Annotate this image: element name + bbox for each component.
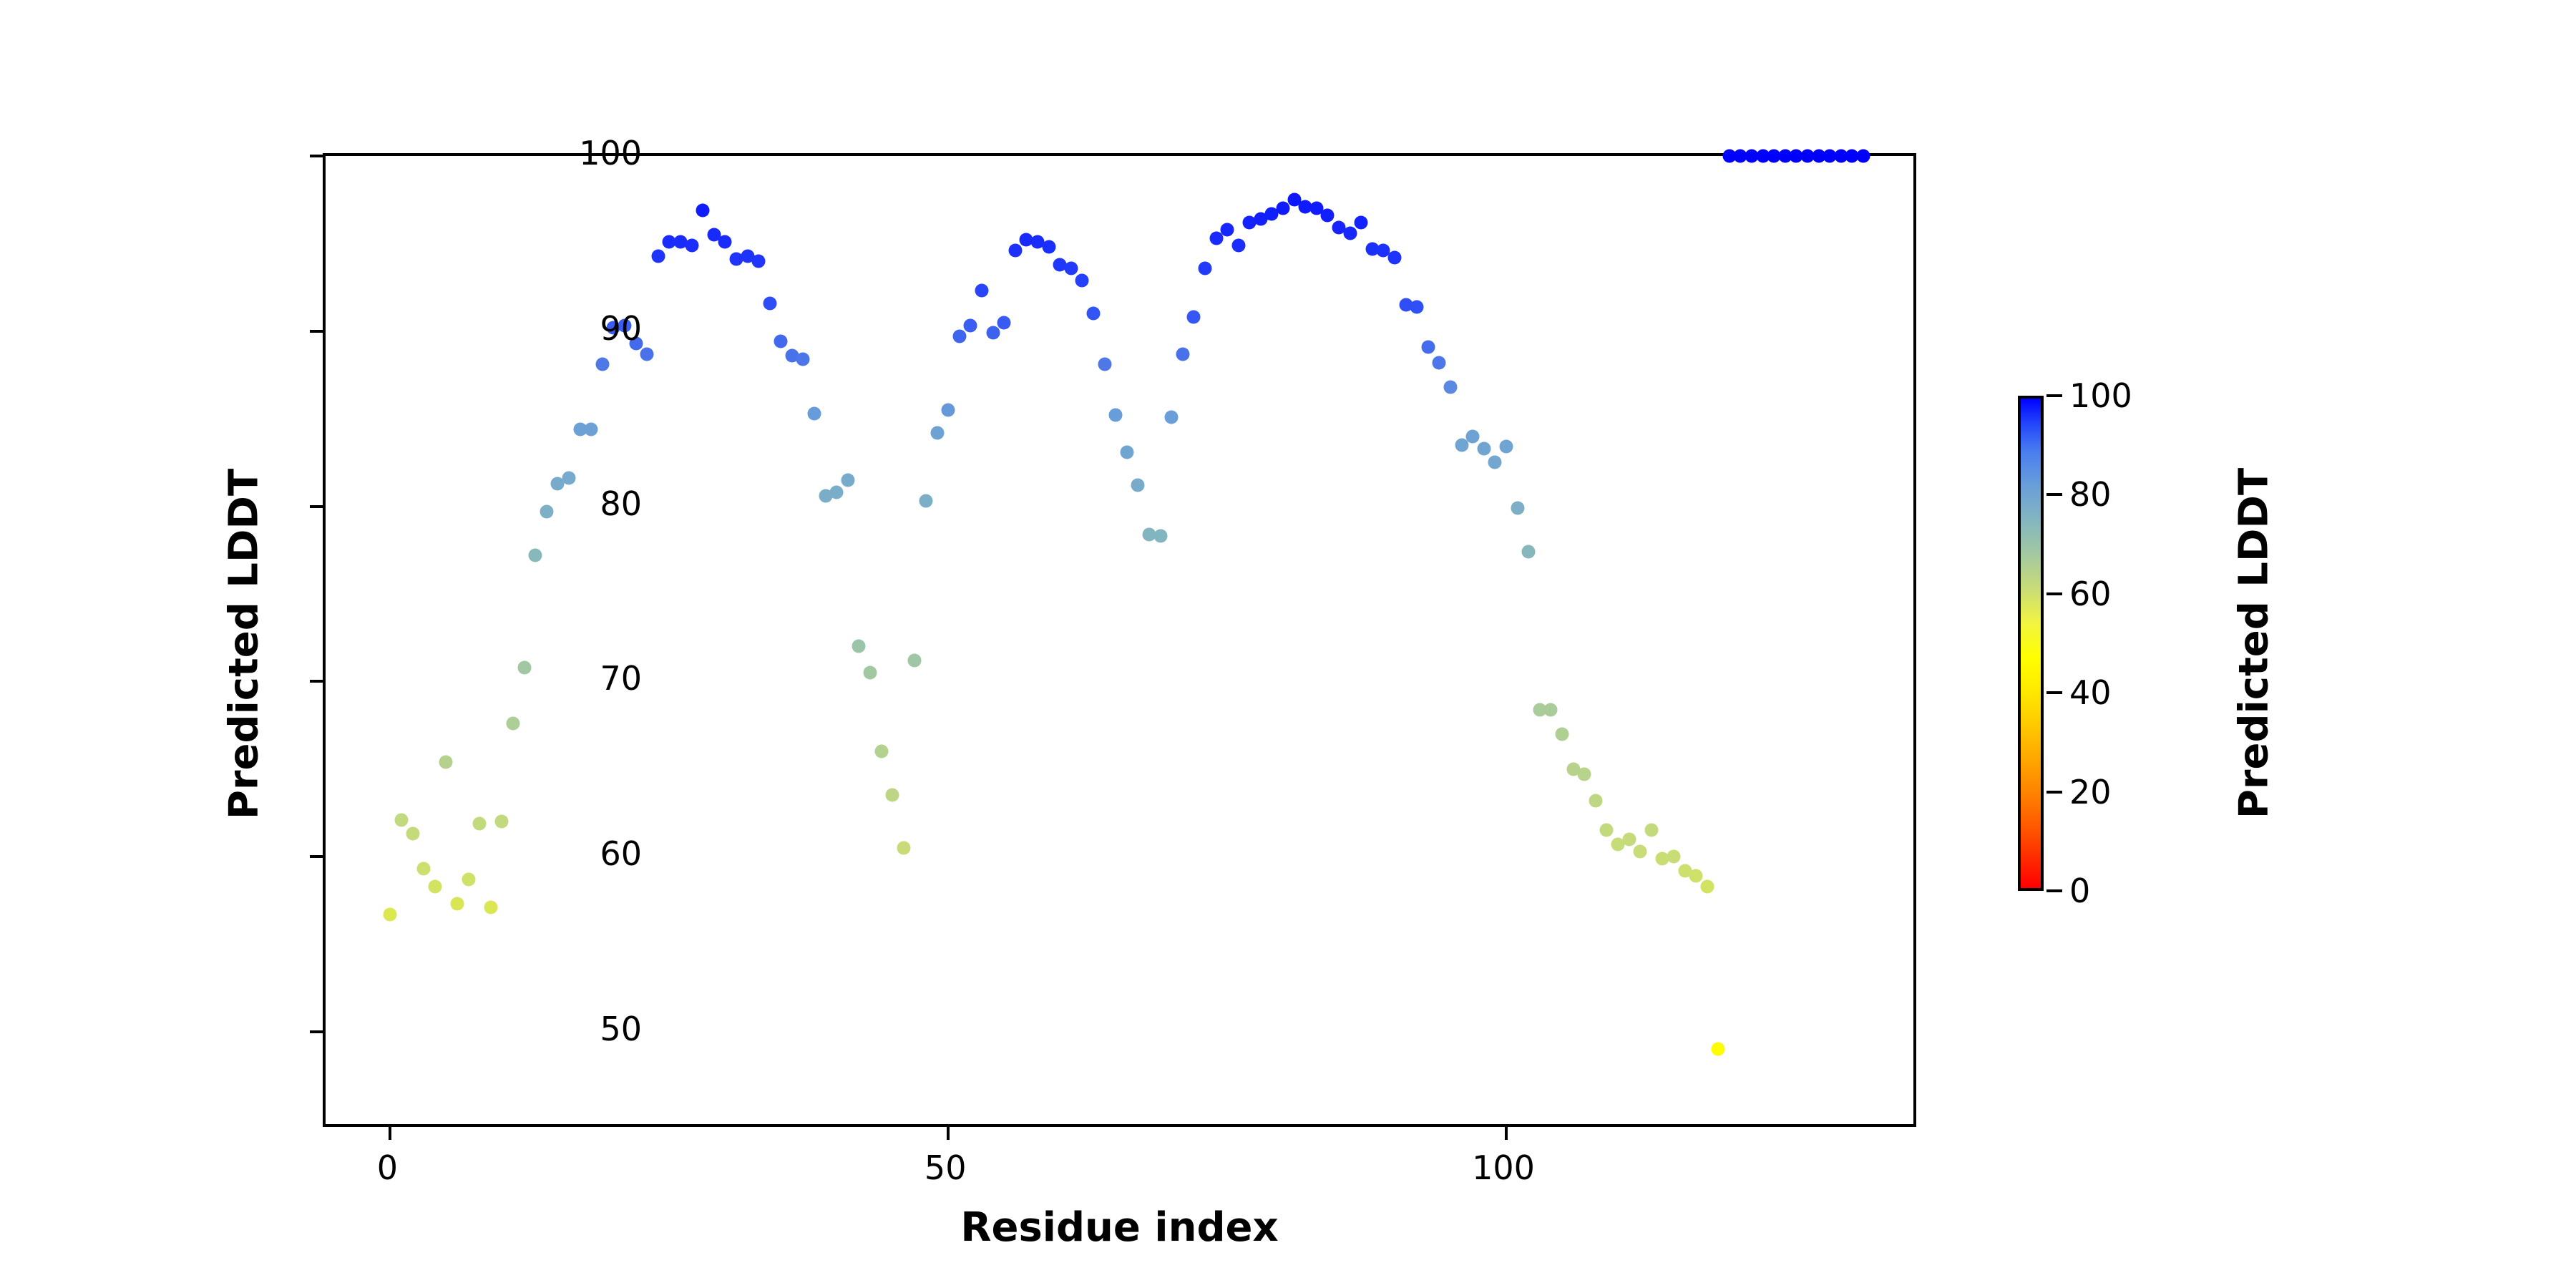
scatter-point (1008, 244, 1022, 258)
scatter-point (1689, 869, 1703, 883)
scatter-point (1421, 340, 1435, 353)
scatter-point (651, 249, 665, 263)
scatter-point (1433, 356, 1446, 369)
colorbar: 020406080100 Predicted LDDT (2018, 396, 2390, 897)
scatter-point (1388, 250, 1402, 264)
colorbar-tick-label: 60 (2069, 575, 2112, 613)
scatter-point (1187, 311, 1201, 324)
scatter-point (930, 426, 944, 439)
scatter-point (1098, 358, 1111, 371)
scatter-point (1209, 232, 1223, 245)
scatter-point (774, 335, 788, 348)
figure-canvas: 5060708090100 050100 Predicted LDDT Resi… (0, 0, 2576, 1288)
scatter-point (1231, 238, 1245, 252)
colorbar-tick (2046, 592, 2062, 595)
colorbar-gradient (2018, 396, 2044, 891)
scatter-point (874, 745, 888, 758)
colorbar-title: Predicted LDDT (2231, 468, 2278, 819)
x-tick (389, 1124, 391, 1140)
colorbar-tick (2046, 493, 2062, 496)
scatter-point (1644, 824, 1658, 837)
scatter-point (1466, 429, 1480, 443)
scatter-point (841, 473, 854, 487)
colorbar-tick (2046, 691, 2062, 694)
scatter-point (1455, 438, 1468, 452)
scatter-point (986, 326, 1000, 340)
y-tick-label: 60 (499, 834, 642, 873)
scatter-point (752, 254, 766, 268)
scatter-point (1622, 832, 1636, 846)
x-tick (1505, 1124, 1508, 1140)
y-tick-label: 70 (499, 659, 642, 698)
scatter-point (1176, 347, 1189, 361)
scatter-point (417, 862, 431, 876)
x-tick (947, 1124, 950, 1140)
scatter-point (1086, 307, 1100, 321)
y-tick (310, 330, 326, 333)
y-tick (310, 855, 326, 858)
colorbar-tick-label: 100 (2069, 376, 2132, 415)
scatter-point (1544, 703, 1558, 716)
scatter-point (964, 319, 977, 333)
scatter-point (585, 422, 598, 436)
scatter-point (1578, 768, 1591, 781)
scatter-point (1165, 410, 1179, 424)
y-tick (310, 505, 326, 508)
y-tick-label: 100 (499, 134, 642, 172)
scatter-point (439, 755, 453, 769)
scatter-point (1221, 223, 1234, 236)
scatter-point (1343, 226, 1357, 240)
scatter-point (595, 358, 609, 371)
scatter-point (1198, 261, 1211, 275)
scatter-point (952, 330, 966, 343)
y-tick-label: 90 (499, 309, 642, 348)
scatter-point (640, 347, 654, 361)
scatter-point (1589, 794, 1602, 807)
y-tick-label: 50 (499, 1010, 642, 1048)
colorbar-tick-label: 0 (2069, 872, 2090, 910)
scatter-point (997, 316, 1011, 329)
scatter-point (1667, 850, 1680, 864)
scatter-point (462, 872, 475, 886)
colorbar-tick-label: 40 (2069, 673, 2112, 712)
scatter-point (1321, 209, 1335, 223)
scatter-point (1488, 456, 1502, 469)
scatter-point (796, 352, 810, 366)
scatter-point (1712, 1043, 1725, 1056)
scatter-point (886, 789, 899, 802)
y-axis-title: Predicted LDDT (221, 469, 268, 819)
scatter-point (763, 296, 776, 310)
scatter-point (942, 403, 955, 416)
scatter-point (1064, 261, 1078, 275)
scatter-point (451, 897, 464, 911)
colorbar-tick (2046, 394, 2062, 397)
scatter-point (1634, 844, 1647, 858)
scatter-point (1600, 824, 1614, 837)
scatter-point (864, 666, 877, 680)
scatter-point (1700, 879, 1714, 893)
y-tick-label: 80 (499, 484, 642, 523)
scatter-point (1477, 441, 1491, 455)
scatter-point (428, 879, 441, 893)
scatter-point (1109, 409, 1123, 422)
scatter-point (1522, 545, 1536, 559)
scatter-point (1277, 202, 1290, 215)
scatter-point (1511, 502, 1524, 515)
x-axis-title: Residue index (323, 1204, 1916, 1251)
x-tick-label: 0 (377, 1148, 398, 1187)
colorbar-tick (2046, 791, 2062, 794)
y-tick (310, 155, 326, 157)
scatter-point (1499, 440, 1513, 454)
scatter-point (1444, 381, 1458, 394)
scatter-point (1410, 300, 1424, 313)
scatter-point (406, 827, 419, 841)
scatter-point (975, 284, 989, 298)
scatter-point (484, 901, 497, 914)
scatter-point (1075, 273, 1089, 287)
scatter-point (696, 203, 710, 217)
scatter-point (852, 640, 866, 653)
colorbar-tick-label: 20 (2069, 773, 2112, 811)
scatter-point (685, 238, 698, 252)
colorbar-tick-label: 80 (2069, 475, 2112, 514)
scatter-point (1555, 727, 1568, 741)
scatter-point (1355, 216, 1368, 230)
scatter-point (562, 472, 575, 485)
scatter-point (507, 717, 520, 731)
scatter-point (1042, 240, 1055, 254)
scatter-point (495, 815, 509, 829)
scatter-point (1131, 479, 1145, 492)
scatter-point (1120, 445, 1133, 459)
scatter-point (395, 813, 409, 826)
scatter-points-layer (326, 156, 1913, 1124)
scatter-point (384, 907, 397, 921)
scatter-point (1857, 150, 1870, 163)
scatter-point (808, 406, 821, 420)
scatter-plot-axes (323, 153, 1916, 1127)
x-tick-label: 50 (924, 1148, 967, 1187)
y-tick (310, 1030, 326, 1033)
scatter-point (473, 816, 487, 830)
scatter-point (1153, 530, 1167, 543)
scatter-point (897, 841, 910, 854)
scatter-point (919, 494, 933, 508)
y-tick (310, 680, 326, 683)
scatter-point (529, 549, 542, 562)
scatter-point (830, 485, 844, 499)
scatter-point (908, 653, 922, 667)
colorbar-tick (2046, 889, 2062, 892)
x-tick-label: 100 (1472, 1148, 1535, 1187)
scatter-point (718, 235, 732, 248)
